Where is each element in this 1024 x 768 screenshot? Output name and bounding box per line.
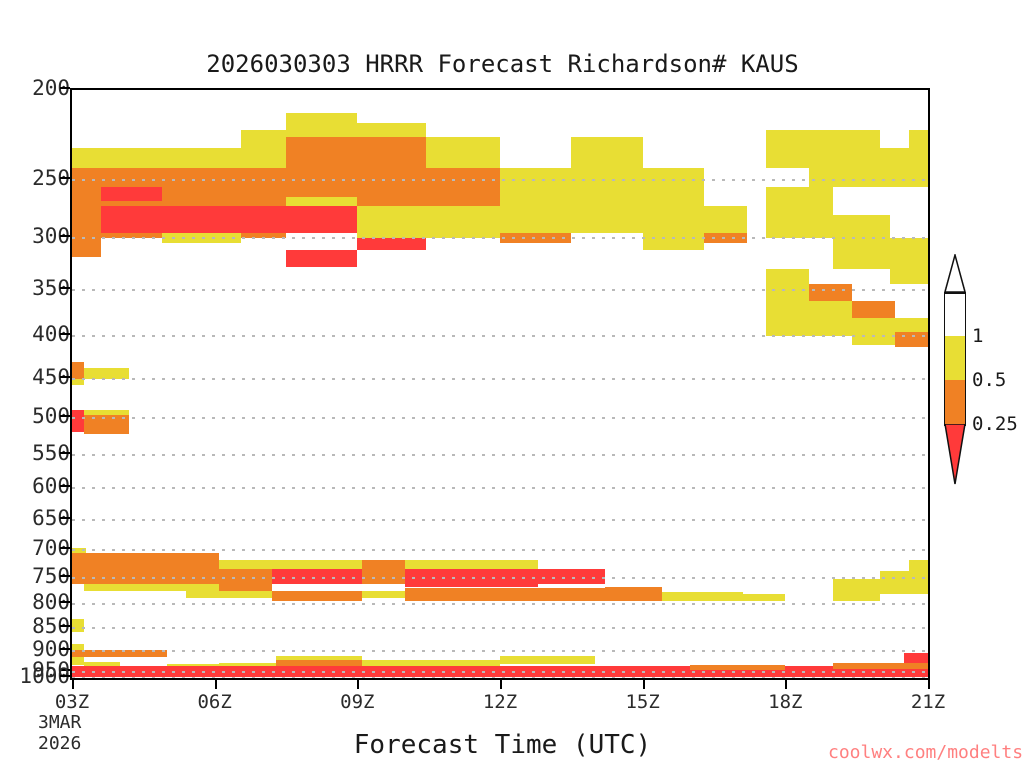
- heatmap-cell: [286, 113, 357, 136]
- x-tick-label: 21Z: [888, 691, 968, 713]
- heatmap-cell: [219, 560, 271, 569]
- heatmap-cell: [500, 168, 643, 234]
- x-tick-label: 03Z: [32, 691, 112, 713]
- x-tick-label: 12Z: [460, 691, 540, 713]
- heatmap-cell: [690, 665, 785, 670]
- heatmap-cell: [72, 657, 84, 664]
- x-tick-mark: [500, 680, 502, 689]
- colorbar-band: [944, 292, 966, 336]
- gridline: [72, 519, 928, 521]
- heatmap-cell: [405, 560, 538, 569]
- heatmap-cell: [101, 206, 241, 234]
- x-axis: 03Z06Z09Z12Z15Z18Z21Z: [70, 680, 930, 720]
- heatmap-canvas: [72, 90, 928, 678]
- x-tick-mark: [643, 680, 645, 689]
- heatmap-cell: [904, 663, 928, 668]
- heatmap-cell: [272, 560, 362, 569]
- gridline: [72, 237, 928, 239]
- heatmap-cell: [286, 250, 357, 267]
- heatmap-cell: [571, 137, 642, 168]
- heatmap-cell: [904, 653, 928, 663]
- y-tick-mark: [60, 415, 70, 417]
- heatmap-cell: [72, 553, 219, 584]
- x-tick-mark: [928, 680, 930, 689]
- x-tick-label: 06Z: [175, 691, 255, 713]
- colorbar-band: [944, 380, 966, 424]
- watermark: coolwx.com/modelts: [828, 742, 1023, 763]
- heatmap-cell: [833, 215, 890, 269]
- y-tick-mark: [60, 625, 70, 627]
- y-tick-mark: [60, 333, 70, 335]
- y-tick-mark: [60, 517, 70, 519]
- heatmap-cell: [909, 130, 928, 148]
- x-tick-mark: [357, 680, 359, 689]
- x-tick-label: 15Z: [603, 691, 683, 713]
- heatmap-cell: [743, 594, 786, 601]
- gridline: [72, 671, 928, 673]
- heatmap-cell: [276, 656, 362, 659]
- y-tick-mark: [60, 87, 70, 89]
- heatmap-cell: [98, 148, 241, 168]
- heatmap-cell: [72, 619, 84, 632]
- x-tick-mark: [215, 680, 217, 689]
- gridline: [72, 487, 928, 489]
- gridline: [72, 549, 928, 551]
- heatmap-cell: [241, 206, 358, 234]
- colorbar-extend-bottom: [944, 424, 966, 486]
- heatmap-cell: [662, 592, 743, 601]
- gridline: [72, 677, 928, 679]
- heatmap-cell: [538, 588, 605, 601]
- heatmap-cell: [890, 238, 928, 284]
- y-tick-mark: [60, 547, 70, 549]
- y-tick-mark: [60, 376, 70, 378]
- x-tick-mark: [72, 680, 74, 689]
- heatmap-cell: [766, 187, 833, 238]
- gridline: [72, 627, 928, 629]
- heatmap-cell: [605, 587, 662, 601]
- heatmap-cell: [405, 588, 538, 601]
- heatmap-cell: [895, 332, 928, 347]
- heatmap-cell: [766, 269, 809, 336]
- heatmap-cell: [362, 560, 405, 569]
- heatmap-cell: [186, 591, 272, 599]
- gridline: [72, 650, 928, 652]
- heatmap-cell: [704, 206, 747, 234]
- heatmap-cell: [426, 137, 500, 168]
- heatmap-cell: [101, 187, 163, 201]
- heatmap-cell: [72, 410, 84, 432]
- colorbar-separator: [944, 292, 966, 294]
- x-tick-mark: [785, 680, 787, 689]
- colorbar-tick-label: 0.5: [972, 369, 1006, 391]
- chart-root: 2026030303 HRRR Forecast Richardson# KAU…: [0, 0, 1024, 768]
- colorbar-legend: 10.50.25: [944, 292, 966, 474]
- gridline: [72, 335, 928, 337]
- y-tick-mark: [60, 601, 70, 603]
- heatmap-cell: [241, 130, 286, 168]
- heatmap-cell: [286, 197, 357, 206]
- x-tick-label: 09Z: [317, 691, 397, 713]
- heatmap-cell: [809, 284, 852, 300]
- gridline: [72, 603, 928, 605]
- gridline: [72, 179, 928, 181]
- gridline: [72, 417, 928, 419]
- heatmap-cell: [219, 569, 271, 590]
- chart-title: 2026030303 HRRR Forecast Richardson# KAU…: [0, 50, 1005, 78]
- y-tick-mark: [60, 575, 70, 577]
- heatmap-cell: [72, 148, 98, 168]
- x-tick-label: 18Z: [745, 691, 825, 713]
- heatmap-cell: [426, 206, 500, 238]
- colorbar-tick-label: 1: [972, 325, 983, 347]
- y-tick-mark: [60, 648, 70, 650]
- y-axis: 2002503003504004505005506006507007508008…: [0, 88, 70, 680]
- heatmap-cell: [426, 168, 500, 206]
- gridline: [72, 454, 928, 456]
- heatmap-cell: [357, 206, 426, 238]
- y-tick-mark: [60, 177, 70, 179]
- y-tick-mark: [60, 485, 70, 487]
- heatmap-cell: [833, 579, 881, 601]
- heatmap-cell: [357, 238, 426, 250]
- heatmap-cell: [272, 591, 362, 601]
- y-tick-mark: [60, 287, 70, 289]
- gridline: [72, 289, 928, 291]
- gridline: [72, 378, 928, 380]
- colorbar-tick-label: 0.25: [972, 413, 1018, 435]
- colorbar-extend-top-outline: [944, 254, 966, 292]
- plot-area: [70, 88, 930, 680]
- y-tick-mark: [60, 675, 70, 677]
- colorbar-band: [944, 336, 966, 380]
- heatmap-cell: [362, 591, 405, 599]
- y-tick-mark: [60, 452, 70, 454]
- heatmap-cell: [84, 584, 220, 591]
- heatmap-cell: [909, 560, 928, 584]
- gridline: [72, 577, 928, 579]
- y-tick-mark: [60, 235, 70, 237]
- heatmap-cell: [500, 656, 595, 664]
